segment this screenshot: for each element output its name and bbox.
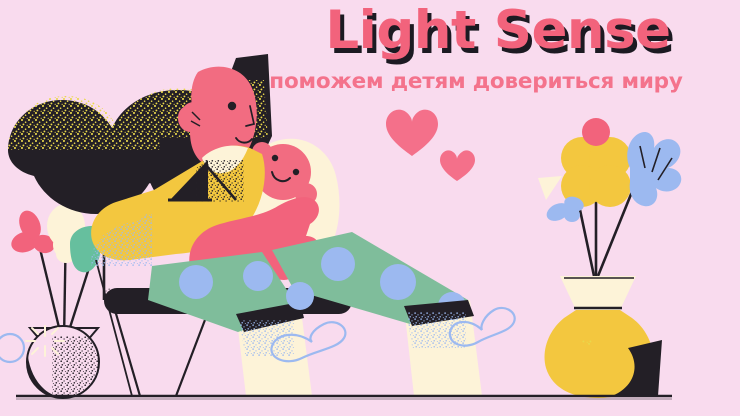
- illustration: [0, 0, 740, 416]
- leg-right-speckle: [404, 312, 466, 348]
- mother-eye: [228, 102, 236, 110]
- mother-ear: [180, 102, 208, 132]
- poster-canvas: Light Sense поможем детям довериться мир…: [0, 0, 740, 416]
- yellow-flower-center: [582, 118, 610, 146]
- polka-dot: [179, 265, 213, 299]
- baby-eye-right: [293, 169, 299, 175]
- leg-left-speckle: [236, 320, 294, 356]
- baby-eye-left: [272, 155, 278, 161]
- polka-dot: [243, 261, 273, 291]
